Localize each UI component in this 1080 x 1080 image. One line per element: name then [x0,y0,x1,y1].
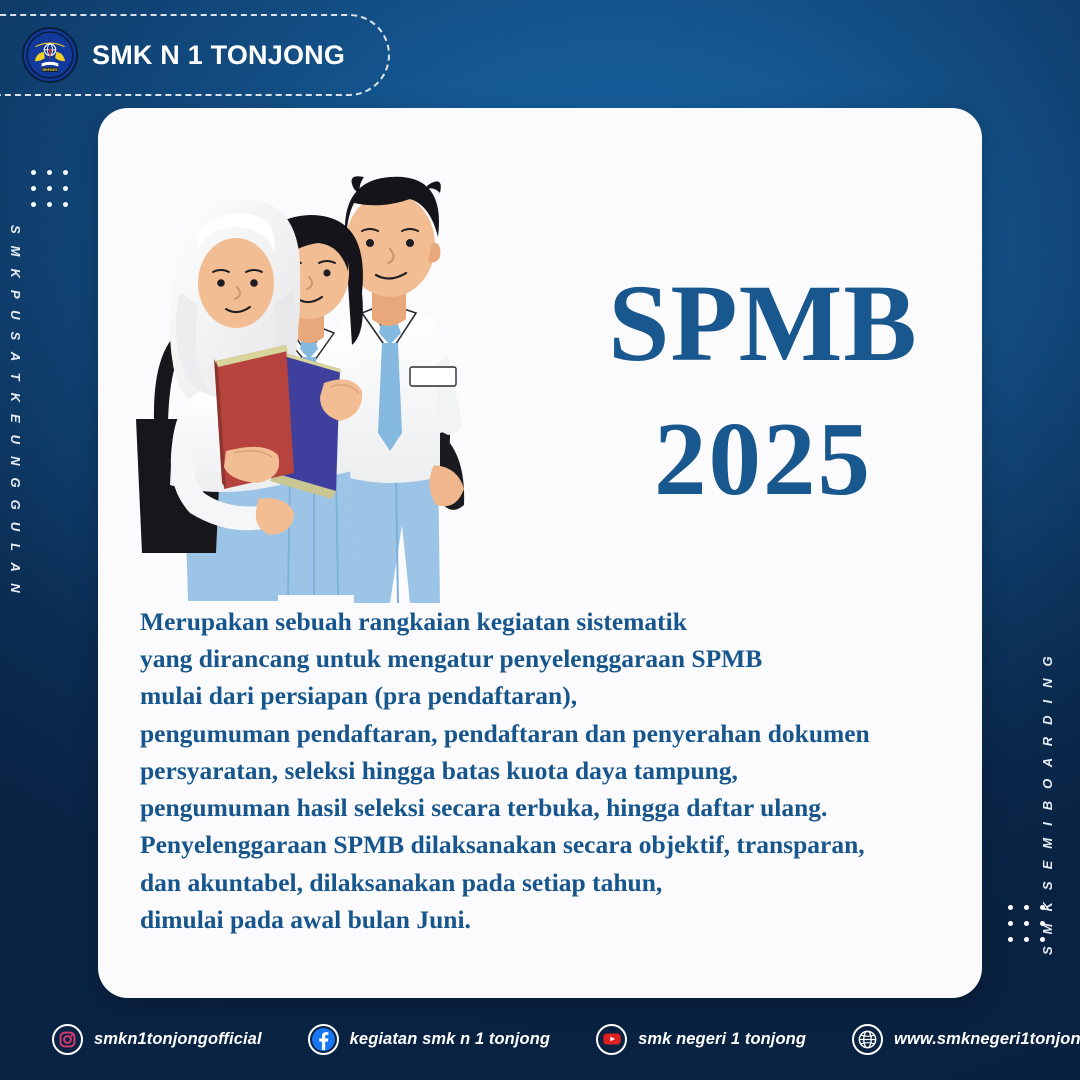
social-label: smk negeri 1 tonjong [638,1030,806,1049]
body-line: Merupakan sebuah rangkaian kegiatan sist… [140,603,976,640]
title-main: SPMB [568,268,958,378]
poster-title: SPMB 2025 [568,268,958,511]
books [214,345,342,499]
social-item-instagram[interactable]: smkn1tonjongofficial [52,1024,262,1055]
school-crest-icon: BREBES [22,27,78,83]
school-name-label: SMK N 1 TONJONG [92,40,345,71]
header-badge: BREBES SMK N 1 TONJONG [0,14,390,96]
facebook-icon[interactable] [308,1024,339,1055]
dot-grid-left [31,170,68,207]
social-label: kegiatan smk n 1 tonjong [350,1030,550,1049]
social-item-website[interactable]: www.smknegeri1tonjong.sch.id [852,1024,1080,1055]
svg-text:BREBES: BREBES [42,68,58,72]
youtube-icon[interactable] [596,1024,627,1055]
body-line: dan akuntabel, dilaksanakan pada setiap … [140,864,976,901]
social-item-facebook[interactable]: kegiatan smk n 1 tonjong [308,1024,550,1055]
three-students-illustration [118,133,568,633]
globe-icon[interactable] [852,1024,883,1055]
body-line: yang dirancang untuk mengatur penyelengg… [140,640,976,677]
content-card: SPMB 2025 Merupakan sebuah rangkaian keg… [98,108,982,998]
body-line: persyaratan, seleksi hingga batas kuota … [140,752,976,789]
dot-grid-right [1008,905,1045,942]
poster-root: BREBES SMK N 1 TONJONG S M K P U S A T K… [0,0,1080,1080]
body-line: Penyelenggaraan SPMB dilaksanakan secara… [140,826,976,863]
side-label-left: S M K P U S A T K E U N G G U L A N [8,225,23,597]
social-footer: smkn1tonjongofficial kegiatan smk n 1 to… [0,998,1080,1080]
social-item-youtube[interactable]: smk negeri 1 tonjong [596,1024,806,1055]
body-line: pengumuman pendaftaran, pendaftaran dan … [140,715,976,752]
body-line: mulai dari persiapan (pra pendaftaran), [140,677,976,714]
social-label: www.smknegeri1tonjong.sch.id [894,1030,1080,1049]
title-year: 2025 [568,406,958,511]
body-line: pengumuman hasil seleksi secara terbuka,… [140,789,976,826]
instagram-icon[interactable] [52,1024,83,1055]
body-line: dimulai pada awal bulan Juni. [140,901,976,938]
social-label: smkn1tonjongofficial [94,1030,262,1049]
body-paragraph: Merupakan sebuah rangkaian kegiatan sist… [140,603,976,938]
